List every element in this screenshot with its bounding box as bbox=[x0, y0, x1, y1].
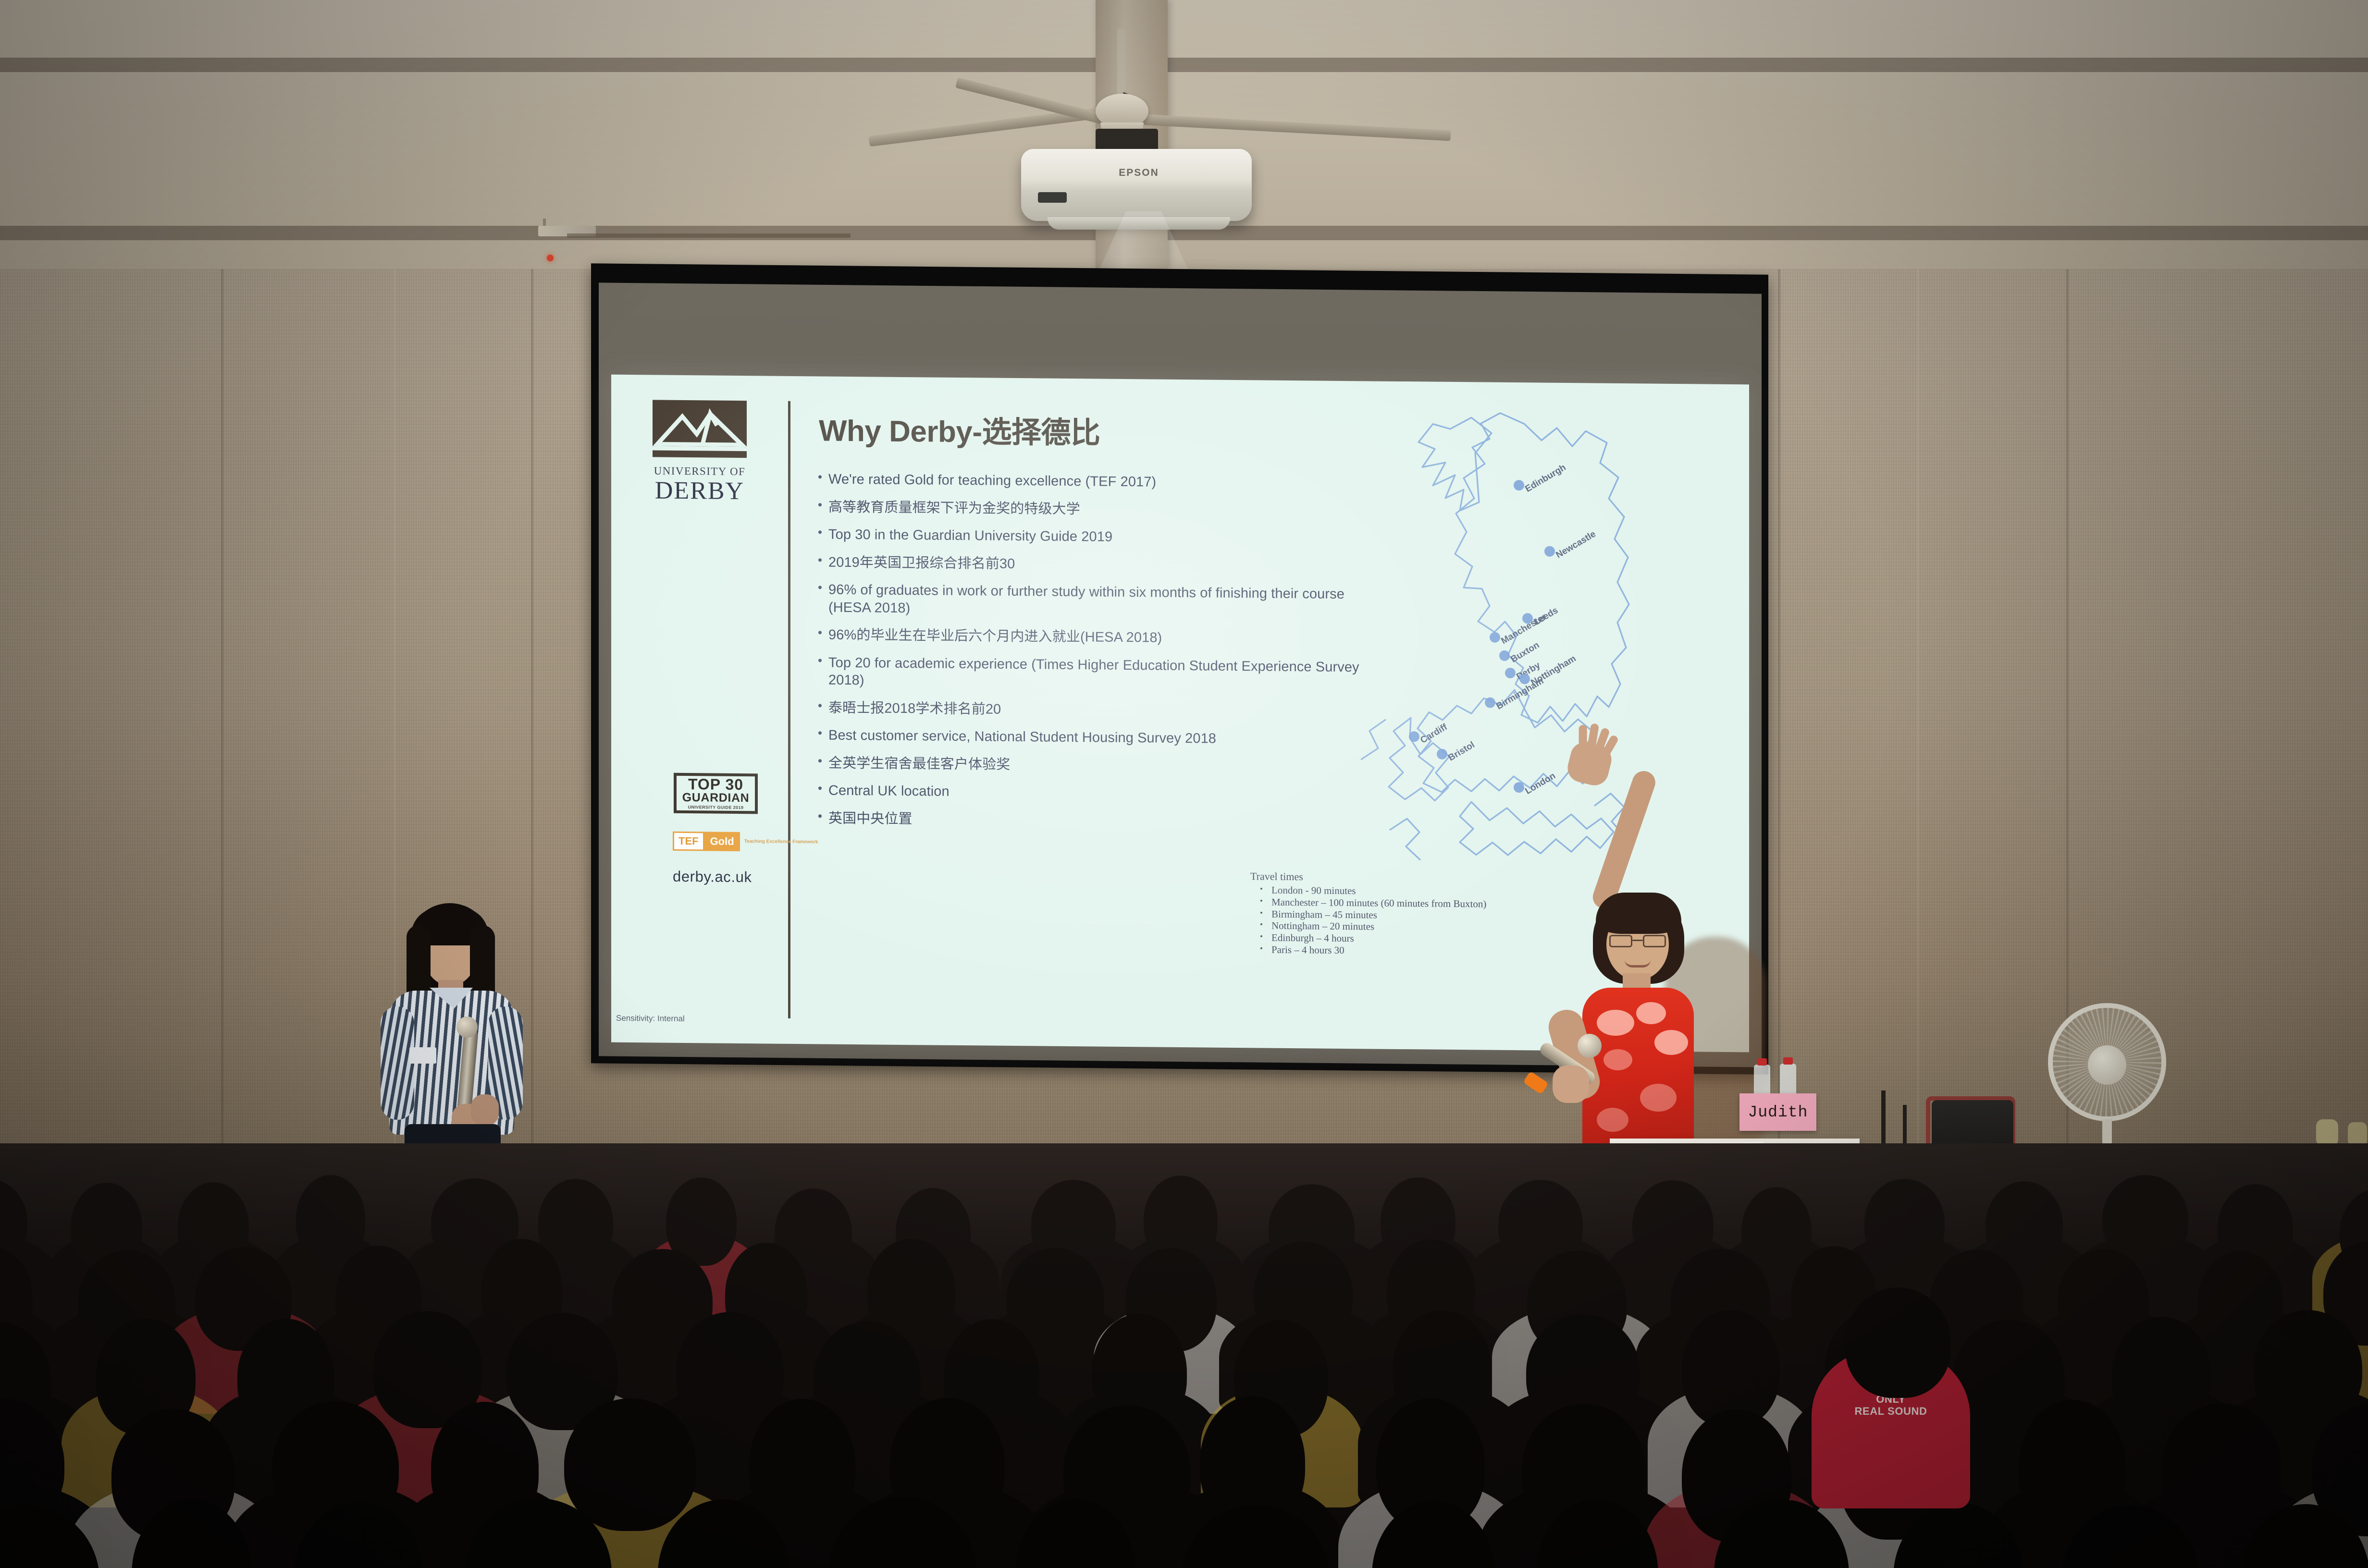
slide-bullet-item: •高等教育质量框架下评为金奖的特级大学 bbox=[818, 498, 1363, 520]
counter-object bbox=[2316, 1119, 2338, 1146]
presenter-left-arm bbox=[381, 1006, 414, 1120]
slide-bullet-item: •全英学生宿舍最佳客户体验奖 bbox=[818, 754, 1363, 776]
bullet-marker-icon: • bbox=[818, 626, 828, 639]
slide-bullet-text: Best customer service, National Student … bbox=[828, 727, 1216, 748]
map-city-dot bbox=[1544, 546, 1555, 557]
slide-bullet-text: 英国中央位置 bbox=[828, 810, 913, 828]
presenter-left-hand bbox=[471, 1094, 499, 1126]
projector-base bbox=[1048, 217, 1230, 230]
projector bbox=[1021, 149, 1252, 221]
derby-website-url: derby.ac.uk bbox=[673, 868, 752, 886]
slide-bullet-item: •Central UK location bbox=[818, 782, 1363, 804]
bullet-marker-icon: • bbox=[818, 699, 828, 712]
bullet-marker-icon: • bbox=[818, 654, 828, 667]
name-placard-text: Judith bbox=[1748, 1103, 1808, 1121]
travel-times-list: London - 90 minutesManchester – 100 minu… bbox=[1250, 884, 1519, 957]
slide-bullet-text: 泰晤士报2018学术排名前20 bbox=[828, 699, 1001, 718]
projector-brand-label: EPSON bbox=[1105, 167, 1172, 179]
presenter-right-hair-top bbox=[1596, 893, 1681, 934]
slide-vertical-divider bbox=[788, 401, 790, 1018]
bullet-marker-icon: • bbox=[818, 754, 828, 767]
slide-bullet-item: •Best customer service, National Student… bbox=[818, 727, 1363, 749]
slide-bullet-item: •Top 20 for academic experience (Times H… bbox=[818, 654, 1363, 694]
standing-fan-hub bbox=[2088, 1045, 2126, 1085]
ceiling-pipe bbox=[567, 233, 851, 238]
top30-badge-line3: UNIVERSITY GUIDE 2019 bbox=[688, 805, 744, 810]
audience-head bbox=[296, 1175, 365, 1263]
audience-head bbox=[564, 1398, 696, 1531]
travel-time-item: Paris – 4 hours 30 bbox=[1271, 943, 1519, 957]
top30-badge-line1: TOP 30 bbox=[688, 777, 743, 792]
travel-times-block: Travel times London - 90 minutesManchest… bbox=[1250, 870, 1519, 957]
bullet-marker-icon: • bbox=[818, 581, 828, 594]
audience-head bbox=[1845, 1287, 1951, 1398]
bullet-marker-icon: • bbox=[818, 809, 828, 822]
slide-bullet-item: •英国中央位置 bbox=[818, 809, 1363, 832]
tef-badge-tag: TEF bbox=[673, 832, 704, 851]
slide-bullet-item: •Top 30 in the Guardian University Guide… bbox=[818, 526, 1363, 548]
water-bottle bbox=[1780, 1064, 1796, 1097]
audience-head bbox=[2161, 1404, 2282, 1536]
slide-title: Why Derby-选择德比 bbox=[819, 406, 1100, 452]
wall-panel-line bbox=[1917, 221, 1919, 1254]
name-placard: Judith bbox=[1739, 1093, 1816, 1131]
slide-bullet-text: 96%的毕业生在毕业后六个月内进入就业(HESA 2018) bbox=[828, 626, 1162, 647]
map-city-dot bbox=[1514, 782, 1524, 793]
map-city-dot bbox=[1409, 731, 1419, 742]
audience-head bbox=[749, 1399, 855, 1531]
derby-logo-block: UNIVERSITY OF DERBY bbox=[653, 400, 773, 504]
top30-guardian-badge: TOP 30 GUARDIAN UNIVERSITY GUIDE 2019 bbox=[674, 773, 758, 814]
slide-bullet-item: •96% of graduates in work or further stu… bbox=[818, 581, 1363, 621]
derby-logo-university-line: UNIVERSITY OF bbox=[653, 465, 747, 478]
slide-bullet-text: 高等教育质量框架下评为金奖的特级大学 bbox=[828, 498, 1080, 518]
presenter-right-hand bbox=[1553, 1066, 1589, 1103]
bullet-marker-icon: • bbox=[818, 526, 828, 539]
map-city-dot bbox=[1505, 668, 1516, 678]
slide-bullet-text: Central UK location bbox=[828, 782, 950, 801]
slide-bullet-text: 96% of graduates in work or further stud… bbox=[828, 581, 1363, 621]
sensitivity-label: Sensitivity: Internal bbox=[616, 1014, 685, 1024]
presenter-right-glasses bbox=[1609, 935, 1666, 947]
bullet-marker-icon: • bbox=[818, 727, 828, 740]
slide-bullet-text: Top 30 in the Guardian University Guide … bbox=[828, 526, 1112, 546]
bullet-marker-icon: • bbox=[818, 498, 828, 511]
slide-bullet-text: Top 20 for academic experience (Times Hi… bbox=[828, 654, 1363, 694]
top30-badge-line2: GUARDIAN bbox=[682, 792, 750, 804]
map-city-dot bbox=[1485, 698, 1495, 708]
slide-bullet-text: 全英学生宿舍最佳客户体验奖 bbox=[828, 754, 1010, 773]
map-city-dot bbox=[1490, 632, 1500, 643]
slide-bullet-item: •泰晤士报2018学术排名前20 bbox=[818, 699, 1363, 721]
projector-lens bbox=[1038, 192, 1067, 203]
map-city-dot bbox=[1437, 749, 1447, 759]
slide-bullet-item: •We're rated Gold for teaching excellenc… bbox=[818, 470, 1363, 492]
slide-bullet-item: •96%的毕业生在毕业后六个月内进入就业(HESA 2018) bbox=[818, 626, 1363, 649]
projector-mount bbox=[1096, 129, 1158, 152]
derby-logo-name-line: DERBY bbox=[653, 478, 747, 504]
derby-logo-rule bbox=[653, 450, 747, 458]
slide-bullet-text: We're rated Gold for teaching excellence… bbox=[828, 471, 1156, 491]
presenter-left-name-badge bbox=[409, 1047, 436, 1064]
ceiling-fan-rod bbox=[1117, 29, 1125, 101]
ceiling-band bbox=[0, 58, 2368, 72]
map-city-dot bbox=[1499, 650, 1510, 661]
indicator-led bbox=[547, 255, 554, 261]
travel-times-heading: Travel times bbox=[1250, 870, 1519, 885]
bullet-marker-icon: • bbox=[818, 553, 828, 566]
slide-bullet-list: •We're rated Gold for teaching excellenc… bbox=[818, 470, 1363, 842]
counter-object bbox=[2348, 1122, 2367, 1146]
audience-head bbox=[676, 1312, 784, 1429]
slide-bullet-item: •2019年英国卫报综合排名前30 bbox=[818, 553, 1363, 576]
presenter-right-microphone-head bbox=[1578, 1034, 1602, 1058]
tef-badge-grade: Gold bbox=[704, 832, 740, 851]
bullet-marker-icon: • bbox=[818, 782, 828, 795]
slide-bullet-text: 2019年英国卫报综合排名前30 bbox=[828, 553, 1015, 573]
presenter-right-smile bbox=[1625, 960, 1651, 968]
audience-head bbox=[1864, 1179, 1945, 1267]
tef-badge-subtitle: Teaching Excellence Framework bbox=[744, 839, 818, 845]
presenter-left-microphone-head bbox=[456, 1017, 478, 1038]
map-city-dot bbox=[1514, 480, 1524, 490]
audience-head bbox=[2253, 1310, 2362, 1427]
derby-peaks-icon bbox=[653, 400, 747, 447]
lecture-hall-photo: EPSON UNIVERSITY OF DERBY TOP 30 GUARDIA… bbox=[0, 0, 2368, 1568]
audience-seating-area: ONLY REAL SOUND bbox=[0, 1143, 2368, 1568]
bullet-marker-icon: • bbox=[818, 470, 828, 483]
tef-gold-badge: TEF Gold Teaching Excellence Framework bbox=[673, 832, 818, 852]
